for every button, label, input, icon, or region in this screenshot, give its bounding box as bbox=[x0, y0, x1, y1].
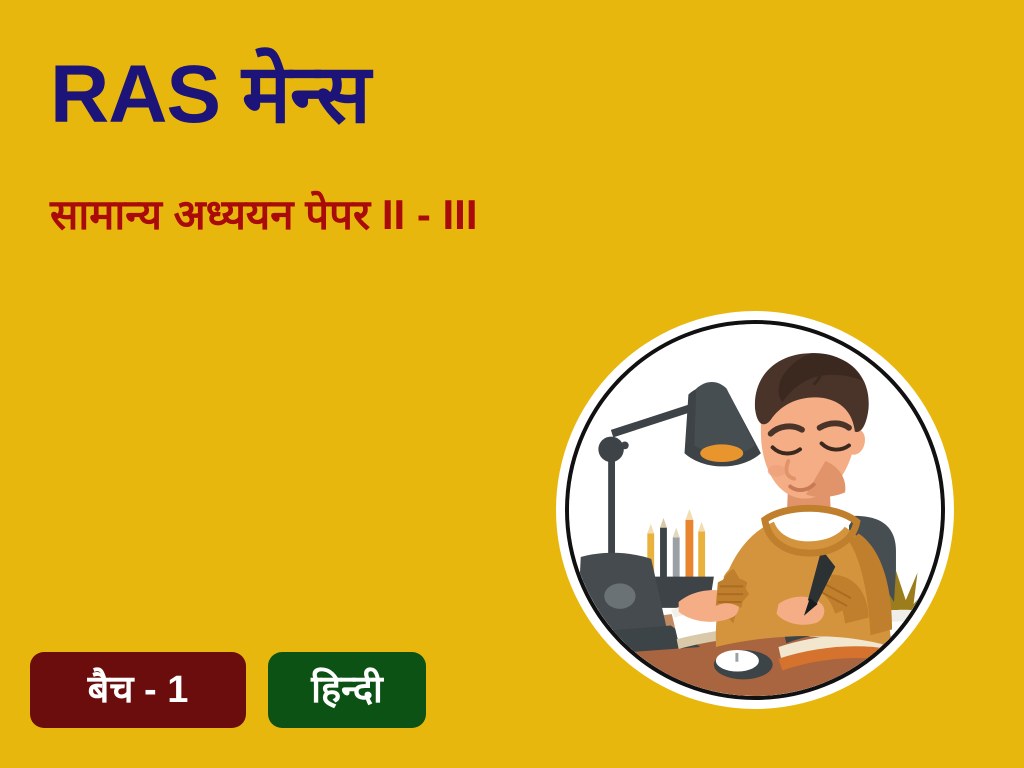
study-scene bbox=[569, 324, 941, 696]
poster-canvas: RAS मेन्स सामान्य अध्ययन पेपर II - III ब… bbox=[0, 0, 1024, 768]
language-badge[interactable]: हिन्दी bbox=[268, 652, 426, 728]
badge-group: बैच - 1 हिन्दी bbox=[30, 652, 426, 728]
batch-badge-label: बैच - 1 bbox=[88, 671, 189, 709]
illustration-circle bbox=[556, 311, 954, 709]
page-subtitle: सामान्य अध्ययन पेपर II - III bbox=[50, 192, 478, 238]
page-title: RAS मेन्स bbox=[50, 52, 370, 138]
computer-mouse-graphic bbox=[714, 650, 773, 679]
batch-badge[interactable]: बैच - 1 bbox=[30, 652, 246, 728]
circle-black-border bbox=[565, 320, 945, 700]
language-badge-label: हिन्दी bbox=[311, 671, 383, 709]
